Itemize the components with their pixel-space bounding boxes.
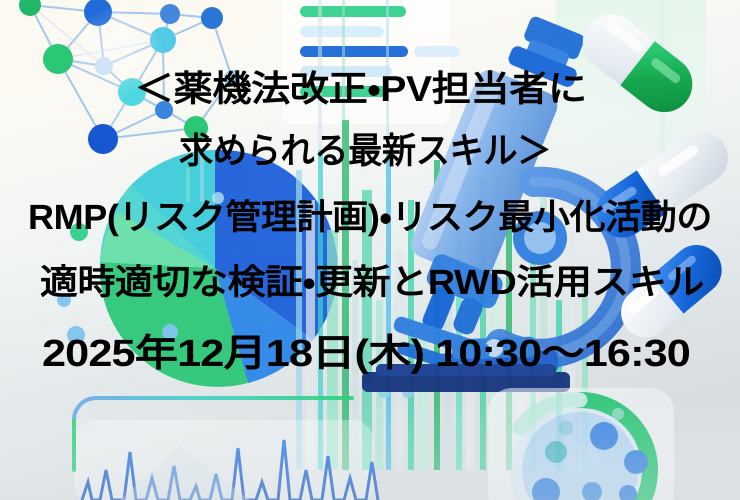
background-artwork xyxy=(0,0,740,500)
background-svg xyxy=(0,0,740,500)
seminar-banner: ＜薬機法改正・PV担当者に 求められる最新スキル＞ RMP(リスク管理計画)・リ… xyxy=(0,0,740,500)
document-card-icon xyxy=(282,0,460,124)
